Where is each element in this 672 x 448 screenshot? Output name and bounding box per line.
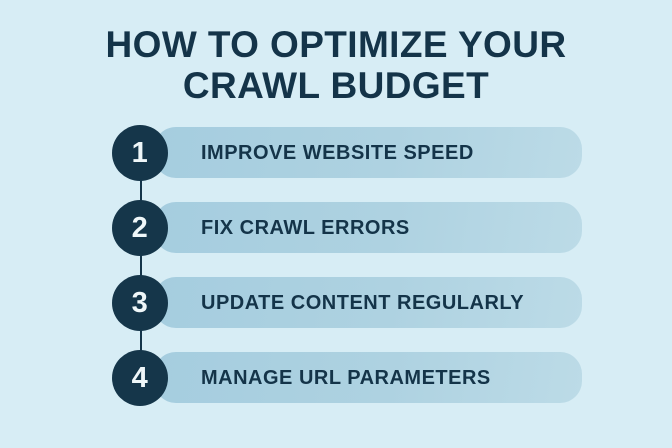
steps-list: 1 IMPROVE WEBSITE SPEED 2 FIX CRAWL ERRO… [0,125,672,405]
step-number-label: 4 [132,364,149,393]
step-row: 3 UPDATE CONTENT REGULARLY [0,275,672,331]
step-number-label: 3 [132,289,149,318]
step-number-label: 2 [132,214,149,243]
step-number-badge: 4 [112,350,168,406]
step-connector-line [140,153,142,378]
step-label: MANAGE URL PARAMETERS [201,350,491,406]
step-row: 1 IMPROVE WEBSITE SPEED [0,125,672,181]
step-label: FIX CRAWL ERRORS [201,200,410,256]
step-row: 2 FIX CRAWL ERRORS [0,200,672,256]
infographic-canvas: HOW TO OPTIMIZE YOUR CRAWL BUDGET 1 IMPR… [0,0,672,448]
step-number-badge: 2 [112,200,168,256]
step-row: 4 MANAGE URL PARAMETERS [0,350,672,406]
step-number-badge: 1 [112,125,168,181]
page-title: HOW TO OPTIMIZE YOUR CRAWL BUDGET [0,24,672,106]
step-label: UPDATE CONTENT REGULARLY [201,275,524,331]
step-number-label: 1 [132,139,149,168]
step-label: IMPROVE WEBSITE SPEED [201,125,474,181]
title-line-1: HOW TO OPTIMIZE YOUR [0,24,672,65]
step-number-badge: 3 [112,275,168,331]
title-line-2: CRAWL BUDGET [0,65,672,106]
